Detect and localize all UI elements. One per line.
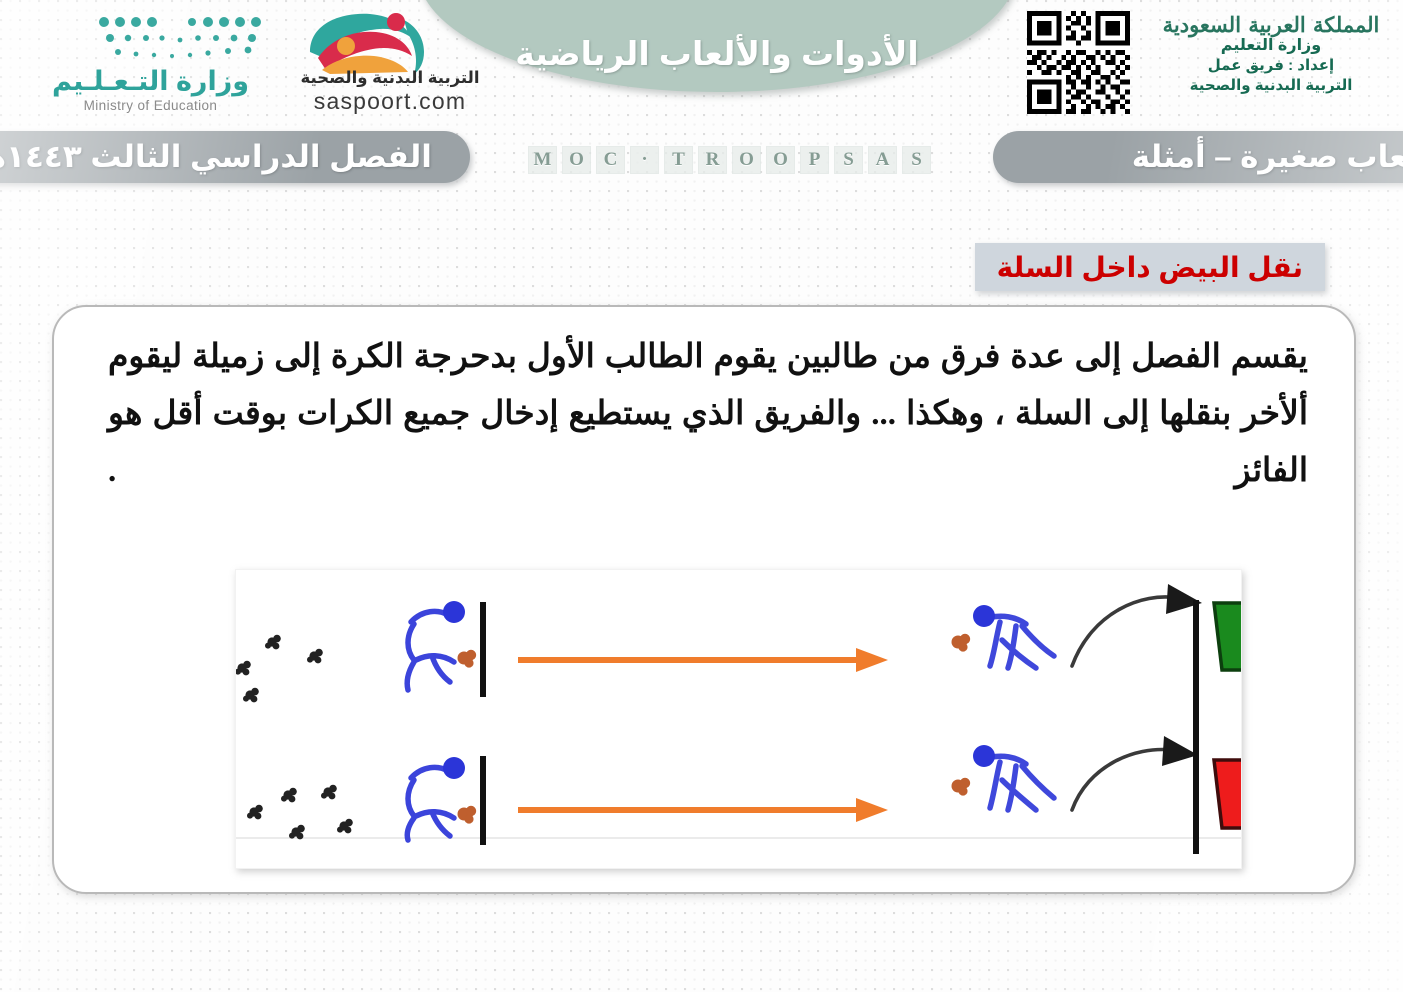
- title-banner: الأدوات والألعاب الرياضية: [418, 0, 1016, 92]
- activity-title-label: نقل البيض داخل السلة: [997, 251, 1303, 284]
- page-title: الأدوات والألعاب الرياضية: [515, 37, 919, 92]
- section-pill: ألعاب صغيرة – أمثلة: [993, 131, 1403, 183]
- ksa-line-ministry: وزارة التعليم: [1145, 36, 1397, 56]
- term-pill: الفصل الدراسي الثالث ١٤٤٣هـ: [0, 131, 470, 183]
- figure-head-bottom: [443, 757, 465, 779]
- figure-head-top-receiver: [973, 605, 995, 627]
- watermark-letter: O: [732, 146, 761, 174]
- watermark-letter: S: [902, 146, 931, 174]
- saspoort-watermark: SASPOORT·COM: [528, 146, 931, 174]
- watermark-letter: C: [596, 146, 625, 174]
- moe-logo-english: Ministry of Education: [18, 98, 283, 113]
- watermark-letter: O: [562, 146, 591, 174]
- moe-dots-icon: [96, 14, 276, 62]
- watermark-letter: P: [800, 146, 829, 174]
- pe-swirl-icon: [300, 6, 430, 76]
- pe-logo-domain: saspoort.com: [290, 88, 490, 115]
- watermark-letter: T: [664, 146, 693, 174]
- pe-logo-arabic: التربية البدنية والصحية: [290, 68, 490, 88]
- ksa-line-department: التربية البدنية والصحية: [1145, 76, 1397, 96]
- watermark-letter: S: [834, 146, 863, 174]
- watermark-letter: ·: [630, 146, 659, 174]
- watermark-letter: O: [766, 146, 795, 174]
- ksa-line-prepared-by: إعداد : فريق عمل: [1145, 56, 1397, 76]
- slide-header: الأدوات والألعاب الرياضية وزارة ا: [0, 0, 1403, 128]
- content-card: يقسم الفصل إلى عدة فرق من طالبين يقوم ال…: [52, 305, 1356, 894]
- activity-diagram: [235, 569, 1242, 869]
- physical-education-logo: التربية البدنية والصحية saspoort.com: [290, 6, 490, 114]
- term-pill-label: الفصل الدراسي الثالث ١٤٤٣هـ: [0, 139, 460, 175]
- watermark-letter: A: [868, 146, 897, 174]
- ksa-line-kingdom: المملكة العربية السعودية: [1145, 14, 1397, 36]
- slide-root: الأدوات والألعاب الرياضية وزارة ا: [0, 0, 1403, 992]
- watermark-letter: M: [528, 146, 557, 174]
- section-pill-label: ألعاب صغيرة – أمثلة: [1098, 139, 1403, 175]
- figure-head-top: [443, 601, 465, 623]
- watermark-letter: R: [698, 146, 727, 174]
- ksa-ministry-block: المملكة العربية السعودية وزارة التعليم إ…: [1145, 14, 1397, 95]
- figure-head-bottom-receiver: [973, 745, 995, 767]
- qr-code-icon: [1027, 11, 1130, 114]
- activity-title-badge: نقل البيض داخل السلة: [975, 243, 1325, 291]
- activity-description: يقسم الفصل إلى عدة فرق من طالبين يقوم ال…: [108, 329, 1308, 499]
- ministry-of-education-logo: وزارة التـعـلـيم Ministry of Education: [18, 14, 283, 114]
- moe-logo-arabic: وزارة التـعـلـيم: [18, 66, 283, 97]
